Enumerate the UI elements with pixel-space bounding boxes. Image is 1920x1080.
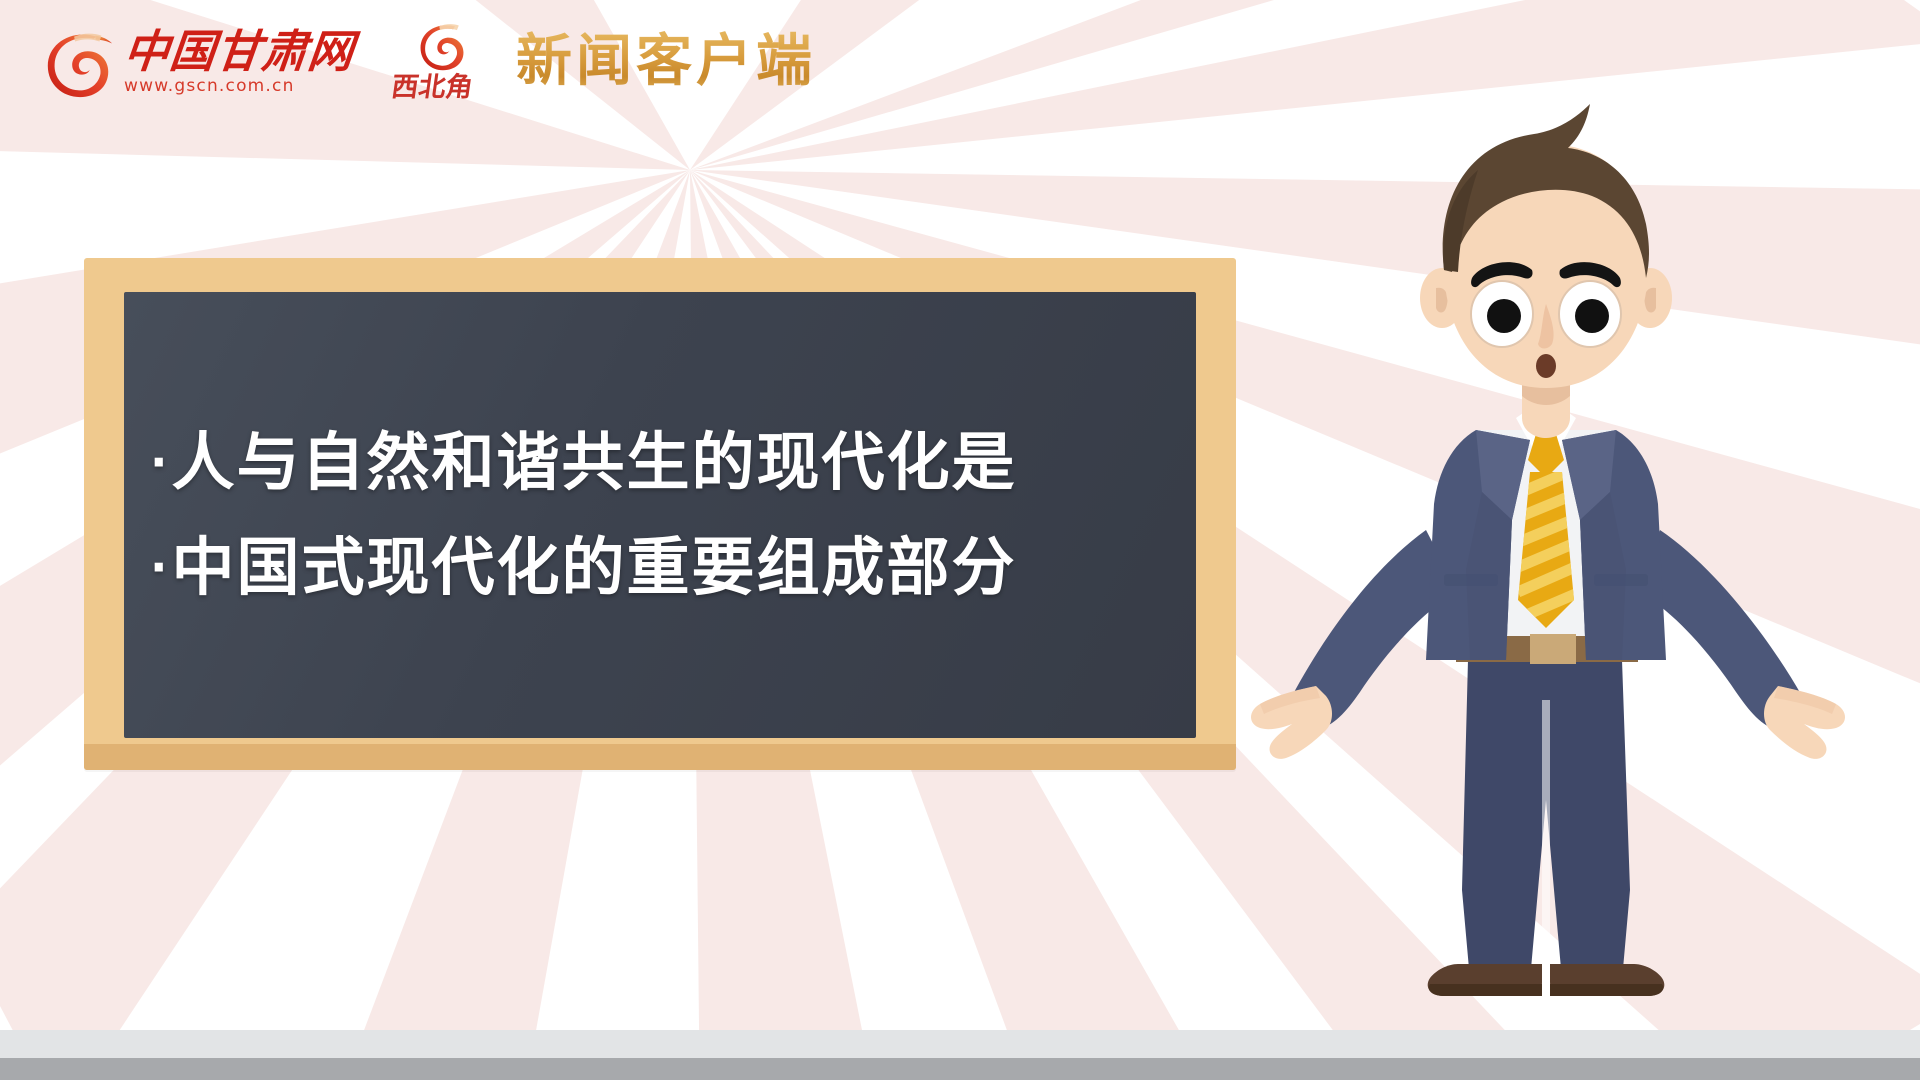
branding-bar: 中国甘肃网 www.gscn.com.cn 西北角 新闻客户端 [40, 16, 816, 108]
blackboard-line-2-text: 中国式现代化的重要组成部分 [171, 531, 1016, 604]
bullet-dot: · [150, 540, 169, 594]
blackboard-line-1: ·人与自然和谐共生的现代化是 [150, 410, 1196, 515]
blackboard-line-2: ·中国式现代化的重要组成部分 [150, 515, 1196, 620]
blackboard-line-1-text: 人与自然和谐共生的现代化是 [171, 426, 1016, 499]
bullet-dot: · [150, 435, 169, 489]
xibeijiao-logo: 西北角 [390, 22, 498, 102]
footer-bar-light [0, 1030, 1920, 1058]
footer-bar-dark [0, 1058, 1920, 1080]
cartoon-businessman-illustration [1230, 100, 1890, 1060]
gansu-swirl-logo-icon [40, 23, 118, 101]
xibeijiao-name-cn: 西北角 [389, 65, 475, 104]
slide-canvas: 中国甘肃网 www.gscn.com.cn 西北角 新闻客户端 [0, 0, 1920, 1080]
gansu-name-cn: 中国甘肃网 [122, 29, 357, 75]
gansu-logo-text: 中国甘肃网 www.gscn.com.cn [124, 23, 354, 101]
gansu-url: www.gscn.com.cn [124, 76, 354, 96]
blackboard-surface: ·人与自然和谐共生的现代化是 ·中国式现代化的重要组成部分 [124, 292, 1196, 738]
app-name-title: 新闻客户端 [516, 26, 816, 98]
blackboard-frame: ·人与自然和谐共生的现代化是 ·中国式现代化的重要组成部分 [84, 258, 1236, 770]
